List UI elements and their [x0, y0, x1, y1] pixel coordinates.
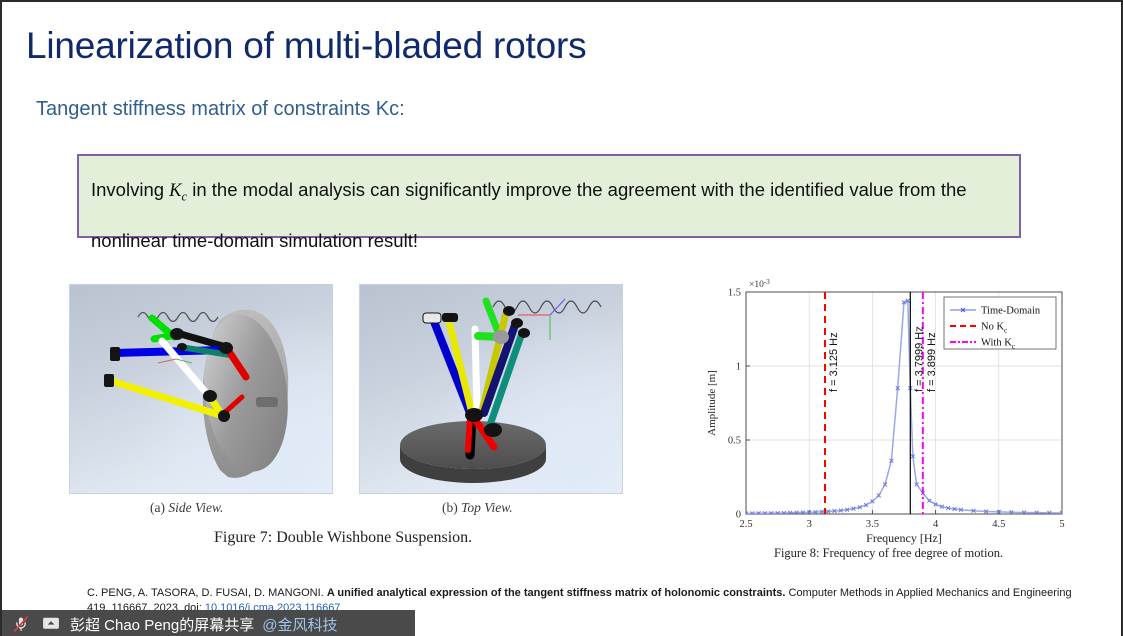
presenter-organization: @金风科技	[262, 614, 337, 635]
svg-text:×10-3: ×10-3	[749, 278, 770, 290]
svg-text:4: 4	[933, 519, 939, 530]
svg-text:3.5: 3.5	[866, 519, 879, 530]
svg-text:Amplitude [m]: Amplitude [m]	[706, 370, 718, 436]
presentation-slide: Linearization of multi-bladed rotors Tan…	[0, 0, 1123, 636]
subfigure-caption-b: (b) Top View.	[442, 500, 513, 516]
svg-text:Frequency [Hz]: Frequency [Hz]	[866, 531, 942, 545]
screen-share-icon[interactable]	[40, 614, 62, 634]
figure-8-chart: 2.533.544.5500.511.5×10-3Frequency [Hz]A…	[702, 274, 1072, 564]
svg-text:f = 3.7999 Hz: f = 3.7999 Hz	[913, 326, 925, 392]
svg-text:1.5: 1.5	[728, 288, 741, 299]
screen-share-status-bar: 彭超 Chao Peng的屏幕共享 @金风科技	[2, 610, 415, 636]
svg-text:f = 3.125 Hz: f = 3.125 Hz	[828, 332, 840, 392]
microphone-muted-icon[interactable]	[10, 614, 32, 634]
top-view-svg	[360, 285, 622, 493]
svg-text:Time-Domain: Time-Domain	[981, 306, 1041, 317]
callout-text-before: Involving	[91, 179, 169, 200]
svg-text:4.5: 4.5	[992, 519, 1005, 530]
svg-text:0.5: 0.5	[728, 436, 741, 447]
presenter-name: 彭超 Chao Peng的屏幕共享	[70, 614, 254, 635]
cad-render-side-view	[69, 284, 333, 494]
svg-text:2.5: 2.5	[739, 519, 752, 530]
kc-symbol: Kc	[169, 181, 187, 201]
subfigure-caption-a: (a) Side View.	[150, 500, 223, 516]
cad-render-top-view	[359, 284, 623, 494]
figure-8-caption: Figure 8: Frequency of free degree of mo…	[774, 546, 1003, 561]
svg-text:5: 5	[1059, 519, 1064, 530]
svg-text:3: 3	[807, 519, 812, 530]
frequency-response-plot: 2.533.544.5500.511.5×10-3Frequency [Hz]A…	[702, 274, 1072, 564]
page-title: Linearization of multi-bladed rotors	[26, 24, 586, 68]
hub-stub	[256, 397, 278, 407]
svg-text:0: 0	[736, 510, 741, 521]
callout-text: Involving Kc in the modal analysis can s…	[91, 168, 1009, 262]
svg-text:1: 1	[736, 362, 741, 373]
callout-box: Involving Kc in the modal analysis can s…	[77, 154, 1021, 238]
callout-text-after: in the modal analysis can significantly …	[91, 179, 967, 251]
svg-text:f = 3.899 Hz: f = 3.899 Hz	[926, 332, 938, 392]
citation-paper-title: A unified analytical expression of the t…	[327, 587, 786, 599]
slide-subtitle: Tangent stiffness matrix of constraints …	[36, 96, 405, 122]
figure-7-caption: Figure 7: Double Wishbone Suspension.	[214, 529, 472, 547]
side-view-svg	[70, 285, 332, 493]
citation-authors: C. PENG, A. TASORA, D. FUSAI, D. MANGONI…	[87, 587, 324, 599]
